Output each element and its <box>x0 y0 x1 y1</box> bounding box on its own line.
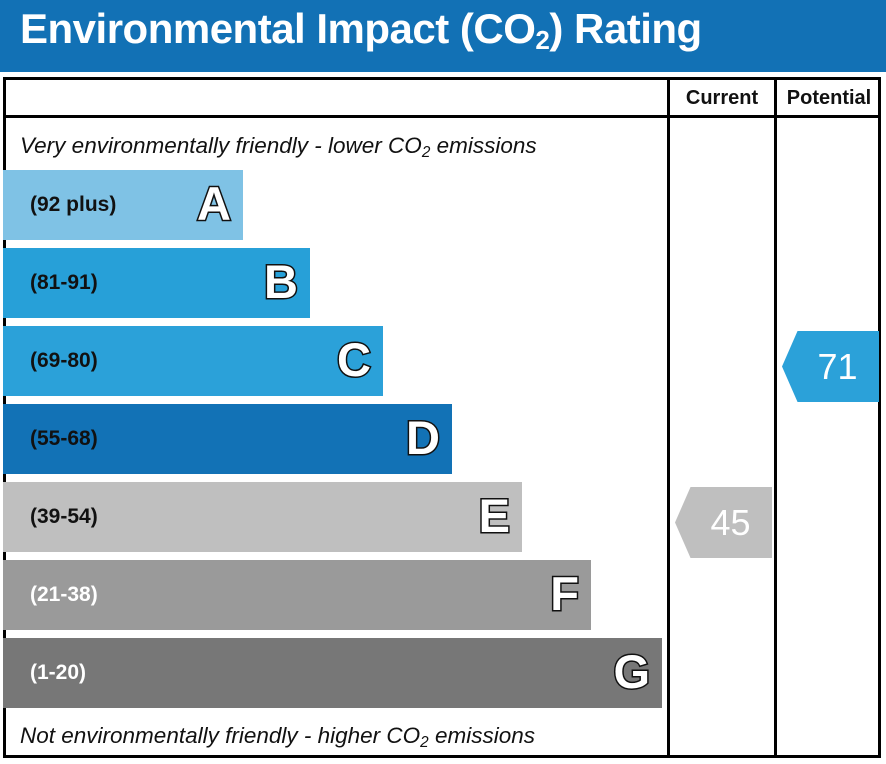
band-letter-e: E <box>479 482 510 552</box>
band-letter-c: C <box>337 326 371 396</box>
current-rating-value: 45 <box>675 487 772 558</box>
current-rating-arrow: 45 <box>675 487 772 558</box>
caption-top-prefix: Very environmentally friendly - lower CO <box>20 133 422 158</box>
header-separator <box>3 115 881 118</box>
band-letter-g: G <box>613 638 650 708</box>
caption-bottom-prefix: Not environmentally friendly - higher CO <box>20 723 420 748</box>
column-header-potential: Potential <box>777 84 881 112</box>
band-range-label: (92 plus) <box>30 170 116 240</box>
band-range-label: (21-38) <box>30 560 98 630</box>
band-letter-d: D <box>406 404 440 474</box>
title-suffix: ) Rating <box>549 5 701 52</box>
column-divider-potential <box>774 77 777 758</box>
band-letter-b: B <box>264 248 298 318</box>
title-prefix: Environmental Impact (CO <box>20 5 535 52</box>
epc-environmental-impact-chart: Environmental Impact (CO2) Rating Curren… <box>0 0 886 764</box>
rating-band-b: (81-91)B <box>3 248 310 318</box>
band-range-label: (81-91) <box>30 248 98 318</box>
page-title: Environmental Impact (CO2) Rating <box>20 5 702 53</box>
title-subscript: 2 <box>535 25 549 55</box>
potential-rating-arrow: 71 <box>782 331 879 402</box>
band-letter-f: F <box>550 560 579 630</box>
rating-band-f: (21-38)F <box>3 560 591 630</box>
rating-band-d: (55-68)D <box>3 404 452 474</box>
band-range-label: (55-68) <box>30 404 98 474</box>
column-header-current: Current <box>670 84 774 112</box>
band-range-label: (1-20) <box>30 638 86 708</box>
band-letter-a: A <box>197 170 231 240</box>
caption-top: Very environmentally friendly - lower CO… <box>20 133 537 159</box>
rating-band-a: (92 plus)A <box>3 170 243 240</box>
band-range-label: (69-80) <box>30 326 98 396</box>
caption-bottom: Not environmentally friendly - higher CO… <box>20 723 535 749</box>
band-range-label: (39-54) <box>30 482 98 552</box>
column-divider-current <box>667 77 670 758</box>
caption-top-suffix: emissions <box>430 133 536 158</box>
rating-band-g: (1-20)G <box>3 638 662 708</box>
caption-bottom-subscript: 2 <box>420 734 429 751</box>
caption-bottom-suffix: emissions <box>429 723 535 748</box>
title-bar: Environmental Impact (CO2) Rating <box>0 0 886 72</box>
rating-band-e: (39-54)E <box>3 482 522 552</box>
potential-rating-value: 71 <box>782 331 879 402</box>
rating-band-c: (69-80)C <box>3 326 383 396</box>
caption-top-subscript: 2 <box>422 144 431 161</box>
